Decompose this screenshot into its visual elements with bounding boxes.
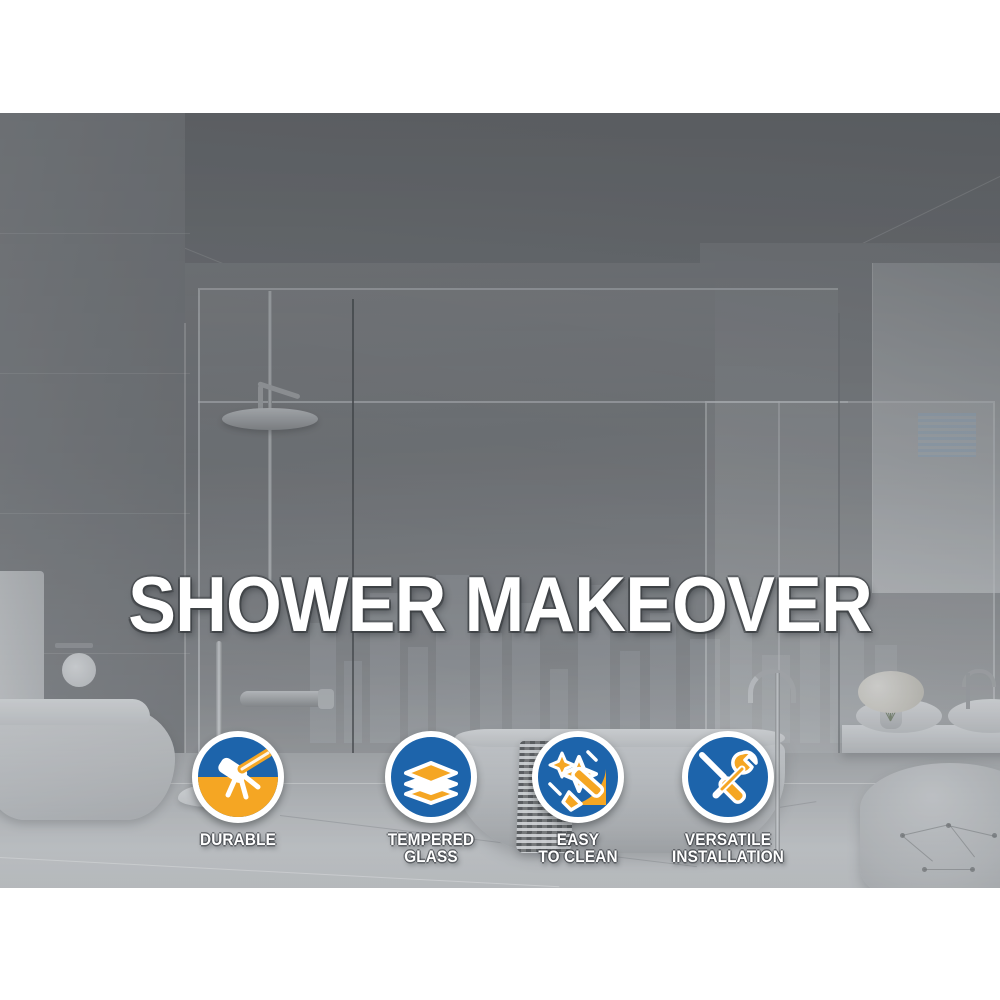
feature-label: EASY TO CLEAN — [511, 831, 646, 866]
feature-label: DURABLE — [171, 831, 306, 848]
sparkle-squeegee-icon — [538, 737, 618, 817]
feature-label: VERSATILE INSTALLATION — [661, 831, 796, 866]
feature-row: DURABLE TEMPERED GLASS — [0, 731, 1000, 888]
product-banner: SHOWER MAKEOVER — [0, 0, 1000, 1000]
feature-tempered-glass[interactable]: TEMPERED GLASS — [356, 731, 506, 866]
feature-versatile-installation[interactable]: VERSATILE INSTALLATION — [653, 731, 803, 866]
screwdriver-wrench-icon — [688, 737, 768, 817]
feature-label: TEMPERED GLASS — [364, 831, 499, 866]
feature-easy-to-clean[interactable]: EASY TO CLEAN — [503, 731, 653, 866]
versatile-installation-badge — [682, 731, 774, 823]
durable-badge — [192, 731, 284, 823]
feature-durable[interactable]: DURABLE — [163, 731, 313, 848]
squeegee-wiper-icon — [198, 737, 278, 817]
page-title: SHOWER MAKEOVER — [40, 565, 960, 643]
bathroom-photo: SHOWER MAKEOVER — [0, 113, 1000, 888]
easy-to-clean-badge — [532, 731, 624, 823]
glass-layers-icon — [391, 737, 471, 817]
tempered-glass-badge — [385, 731, 477, 823]
